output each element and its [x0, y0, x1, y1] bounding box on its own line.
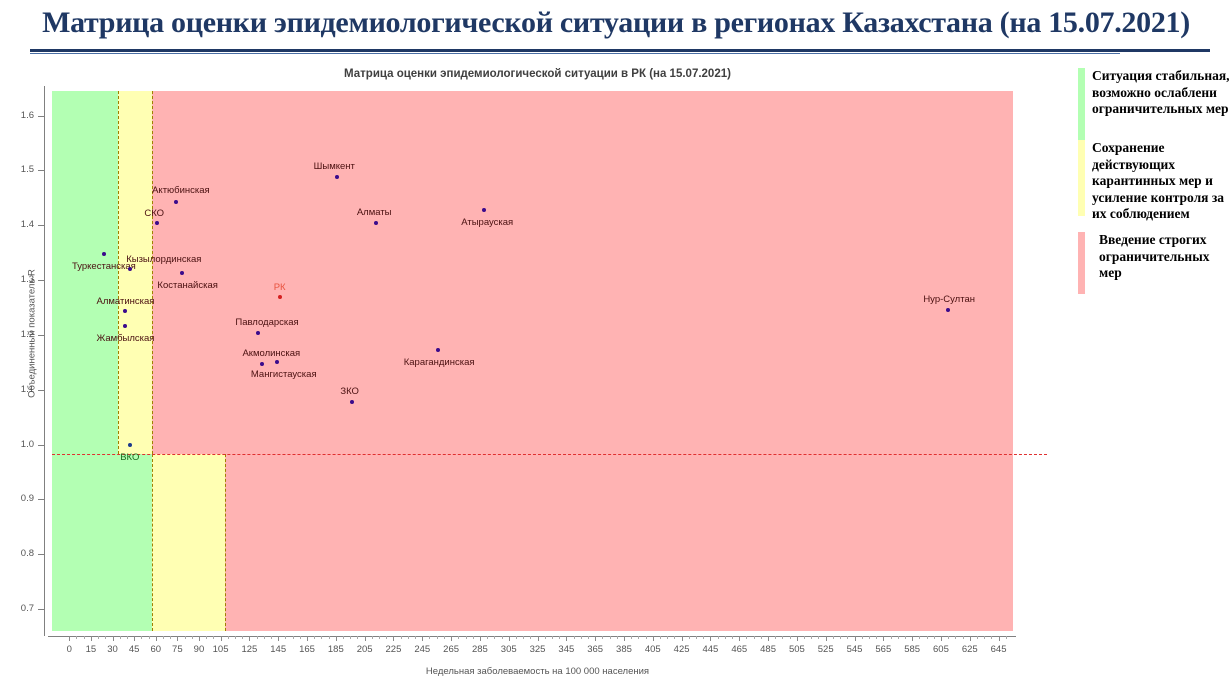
- x-axis-tick-label: 105: [213, 644, 229, 655]
- x-axis-minor-tick: [905, 636, 906, 639]
- data-point-label: ВКО: [120, 452, 139, 463]
- x-axis-tick: [451, 636, 452, 641]
- x-axis-minor-tick: [833, 636, 834, 639]
- x-axis-tick-label: 485: [760, 644, 776, 655]
- y-axis-tick-label: 0.8: [4, 548, 34, 559]
- x-axis-minor-tick: [602, 636, 603, 639]
- x-axis-tick-label: 15: [86, 644, 97, 655]
- x-axis-minor-tick: [754, 636, 755, 639]
- x-axis-minor-tick: [149, 636, 150, 639]
- zone-red-lower: [225, 454, 1013, 631]
- x-axis-minor-tick: [228, 636, 229, 639]
- x-axis-tick-label: 525: [818, 644, 834, 655]
- x-axis-tick: [365, 636, 366, 641]
- x-axis-tick-label: 465: [731, 644, 747, 655]
- zone-yellow-lower: [152, 454, 225, 631]
- chart-panel: Матрица оценки эпидемиологической ситуац…: [0, 58, 1075, 690]
- data-point-label: Павлодарская: [235, 317, 298, 328]
- y-axis-tick-label: 0.7: [4, 603, 34, 614]
- x-axis-minor-tick: [559, 636, 560, 639]
- x-axis-minor-tick: [703, 636, 704, 639]
- data-point: [155, 221, 159, 225]
- x-axis-minor-tick: [264, 636, 265, 639]
- x-axis-minor-tick: [466, 636, 467, 639]
- x-axis-minor-tick: [804, 636, 805, 639]
- data-point-label: Кызылординская: [126, 254, 201, 265]
- data-point-label: Актюбинская: [152, 185, 210, 196]
- x-axis-minor-tick: [343, 636, 344, 639]
- x-axis-minor-tick: [991, 636, 992, 639]
- x-axis-tick: [624, 636, 625, 641]
- x-axis-minor-tick: [293, 636, 294, 639]
- slide-title-bar: Матрица оценки эпидемиологической ситуац…: [0, 0, 1232, 52]
- x-axis-minor-tick: [523, 636, 524, 639]
- x-axis-minor-tick: [1006, 636, 1007, 639]
- x-axis-tick: [855, 636, 856, 641]
- x-axis-minor-tick: [927, 636, 928, 639]
- x-axis-tick: [595, 636, 596, 641]
- x-axis-minor-tick: [631, 636, 632, 639]
- legend-label-yellow: Сохранение действующих карантинных мер и…: [1085, 140, 1232, 223]
- page-title: Матрица оценки эпидемиологической ситуац…: [0, 6, 1232, 40]
- x-axis-line: [48, 636, 1016, 637]
- x-axis-tick-label: 445: [702, 644, 718, 655]
- y-axis-tick-label: 0.9: [4, 493, 34, 504]
- y-axis-tick: [38, 335, 44, 336]
- x-axis-tick: [538, 636, 539, 641]
- data-point-label: Акмолинская: [242, 348, 300, 359]
- data-point-label: Алматинская: [97, 296, 155, 307]
- x-axis-tick: [249, 636, 250, 641]
- data-point: [350, 400, 354, 404]
- x-axis-minor-tick: [638, 636, 639, 639]
- x-axis-tick: [739, 636, 740, 641]
- x-axis-tick-label: 365: [587, 644, 603, 655]
- x-axis-minor-tick: [574, 636, 575, 639]
- x-axis-minor-tick: [213, 636, 214, 639]
- x-axis-tick: [883, 636, 884, 641]
- x-axis-minor-tick: [898, 636, 899, 639]
- legend-label-red: Введение строгих ограничительных мер: [1085, 232, 1232, 294]
- x-axis-tick: [509, 636, 510, 641]
- y-axis-tick: [38, 554, 44, 555]
- title-underline-secondary: [30, 53, 1120, 54]
- x-axis-tick-label: 585: [904, 644, 920, 655]
- x-axis-tick-label: 185: [328, 644, 344, 655]
- x-axis-tick: [393, 636, 394, 641]
- threshold-line-incidence-high-upper: [152, 91, 153, 454]
- data-point-label: Алматы: [357, 207, 392, 218]
- x-axis-tick: [307, 636, 308, 641]
- x-axis-minor-tick: [617, 636, 618, 639]
- x-axis-tick-label: 545: [847, 644, 863, 655]
- threshold-line-incidence-low-upper: [118, 91, 119, 454]
- x-axis-tick-label: 265: [443, 644, 459, 655]
- y-axis-tick: [38, 225, 44, 226]
- x-axis-tick-label: 45: [129, 644, 140, 655]
- x-axis-minor-tick: [120, 636, 121, 639]
- x-axis-tick: [278, 636, 279, 641]
- x-axis-minor-tick: [891, 636, 892, 639]
- x-axis-tick-label: 75: [172, 644, 183, 655]
- y-axis-tick: [38, 445, 44, 446]
- x-axis-minor-tick: [610, 636, 611, 639]
- x-axis-label: Недельная заболеваемость на 100 000 насе…: [0, 666, 1075, 677]
- x-axis-minor-tick: [285, 636, 286, 639]
- x-axis-minor-tick: [919, 636, 920, 639]
- x-axis-minor-tick: [401, 636, 402, 639]
- data-point-label: Нур-Султан: [923, 294, 975, 305]
- x-axis-minor-tick: [977, 636, 978, 639]
- legend-item-green: Ситуация стабильная, возможно ослаблени …: [1078, 68, 1232, 140]
- x-axis-minor-tick: [732, 636, 733, 639]
- x-axis-minor-tick: [206, 636, 207, 639]
- y-axis-tick-label: 1.5: [4, 164, 34, 175]
- x-axis-tick-label: 205: [357, 644, 373, 655]
- x-axis-minor-tick: [84, 636, 85, 639]
- x-axis-tick-label: 385: [616, 644, 632, 655]
- x-axis-tick-label: 245: [414, 644, 430, 655]
- data-point-label: СКО: [144, 208, 164, 219]
- x-axis-tick: [134, 636, 135, 641]
- x-axis-tick: [113, 636, 114, 641]
- legend-swatch-green: [1078, 68, 1085, 140]
- title-underline: [30, 49, 1210, 52]
- x-axis-minor-tick: [782, 636, 783, 639]
- data-point-label: Атырауская: [461, 217, 513, 228]
- x-axis-tick: [710, 636, 711, 641]
- x-axis-tick: [768, 636, 769, 641]
- y-axis-tick: [38, 170, 44, 171]
- x-axis-tick-label: 90: [194, 644, 205, 655]
- x-axis-minor-tick: [811, 636, 812, 639]
- x-axis-tick-label: 30: [107, 644, 118, 655]
- zone-green-lower: [52, 454, 152, 631]
- data-point-label: ЗКО: [340, 386, 359, 397]
- x-axis-minor-tick: [271, 636, 272, 639]
- y-axis-tick: [38, 116, 44, 117]
- zone-green-upper: [52, 91, 118, 454]
- data-point: [128, 443, 132, 447]
- x-axis-minor-tick: [98, 636, 99, 639]
- x-axis-minor-tick: [314, 636, 315, 639]
- x-axis-minor-tick: [516, 636, 517, 639]
- x-axis-tick-label: 425: [674, 644, 690, 655]
- data-point: [174, 200, 178, 204]
- legend-swatch-red: [1078, 232, 1085, 294]
- y-axis-label: Объединенный показатель R: [27, 254, 38, 414]
- x-axis-tick: [336, 636, 337, 641]
- x-axis-minor-tick: [761, 636, 762, 639]
- x-axis-minor-tick: [984, 636, 985, 639]
- data-point: [436, 348, 440, 352]
- data-point: [335, 175, 339, 179]
- x-axis-tick-label: 405: [645, 644, 661, 655]
- x-axis-tick: [156, 636, 157, 641]
- x-axis-minor-tick: [76, 636, 77, 639]
- legend: Ситуация стабильная, возможно ослаблени …: [1078, 62, 1232, 382]
- legend-item-yellow: Сохранение действующих карантинных мер и…: [1078, 140, 1232, 223]
- x-axis-minor-tick: [725, 636, 726, 639]
- x-axis-tick: [912, 636, 913, 641]
- x-axis-tick: [177, 636, 178, 641]
- y-axis-line: [44, 86, 45, 636]
- x-axis-minor-tick: [170, 636, 171, 639]
- x-axis-tick: [480, 636, 481, 641]
- x-axis-minor-tick: [192, 636, 193, 639]
- x-axis-minor-tick: [963, 636, 964, 639]
- threshold-line-incidence-low-lower: [152, 454, 153, 631]
- x-axis-tick-label: 625: [962, 644, 978, 655]
- x-axis-minor-tick: [718, 636, 719, 639]
- x-axis-minor-tick: [660, 636, 661, 639]
- x-axis-minor-tick: [869, 636, 870, 639]
- x-axis-tick: [941, 636, 942, 641]
- x-axis-minor-tick: [646, 636, 647, 639]
- x-axis-tick-label: 60: [150, 644, 161, 655]
- x-axis-minor-tick: [408, 636, 409, 639]
- x-axis-minor-tick: [350, 636, 351, 639]
- x-axis-tick-label: 565: [875, 644, 891, 655]
- x-axis-tick: [999, 636, 1000, 641]
- x-axis-tick-label: 505: [789, 644, 805, 655]
- x-axis-tick-label: 345: [558, 644, 574, 655]
- x-axis-minor-tick: [552, 636, 553, 639]
- x-axis-tick: [970, 636, 971, 641]
- x-axis-minor-tick: [876, 636, 877, 639]
- data-point-label: Костанайская: [157, 280, 217, 291]
- x-axis-minor-tick: [746, 636, 747, 639]
- x-axis-minor-tick: [257, 636, 258, 639]
- x-axis-tick: [566, 636, 567, 641]
- x-axis-minor-tick: [235, 636, 236, 639]
- x-axis-minor-tick: [444, 636, 445, 639]
- y-axis-tick-label: 1.4: [4, 219, 34, 230]
- x-axis-tick: [221, 636, 222, 641]
- x-axis-tick: [199, 636, 200, 641]
- zone-yellow-upper: [118, 91, 152, 454]
- x-axis-tick-label: 285: [472, 644, 488, 655]
- x-axis-tick-label: 225: [386, 644, 402, 655]
- x-axis-minor-tick: [667, 636, 668, 639]
- x-axis-minor-tick: [357, 636, 358, 639]
- legend-swatch-yellow: [1078, 140, 1085, 216]
- x-axis-tick: [797, 636, 798, 641]
- x-axis-tick: [91, 636, 92, 641]
- x-axis-tick: [682, 636, 683, 641]
- y-axis-tick: [38, 280, 44, 281]
- x-axis-minor-tick: [321, 636, 322, 639]
- x-axis-minor-tick: [105, 636, 106, 639]
- y-axis-tick-label: 1.6: [4, 110, 34, 121]
- x-axis-tick-label: 0: [67, 644, 72, 655]
- x-axis-minor-tick: [847, 636, 848, 639]
- x-axis-tick: [653, 636, 654, 641]
- x-axis-minor-tick: [502, 636, 503, 639]
- data-point-label: РК: [274, 282, 286, 293]
- x-axis-minor-tick: [458, 636, 459, 639]
- x-axis-minor-tick: [163, 636, 164, 639]
- y-axis-tick: [38, 499, 44, 500]
- threshold-line-incidence-high-lower: [225, 454, 226, 631]
- x-axis-tick: [69, 636, 70, 641]
- data-point: [128, 267, 132, 271]
- chart-title: Матрица оценки эпидемиологической ситуац…: [0, 68, 1075, 80]
- x-axis-minor-tick: [141, 636, 142, 639]
- x-axis-tick-label: 165: [299, 644, 315, 655]
- x-axis-minor-tick: [955, 636, 956, 639]
- x-axis-minor-tick: [934, 636, 935, 639]
- x-axis-minor-tick: [242, 636, 243, 639]
- x-axis-minor-tick: [415, 636, 416, 639]
- x-axis-tick-label: 605: [933, 644, 949, 655]
- x-axis-tick-label: 305: [501, 644, 517, 655]
- x-axis-minor-tick: [581, 636, 582, 639]
- x-axis-minor-tick: [790, 636, 791, 639]
- x-axis-minor-tick: [696, 636, 697, 639]
- y-axis-tick-label: 1.0: [4, 439, 34, 450]
- x-axis-minor-tick: [588, 636, 589, 639]
- x-axis-minor-tick: [473, 636, 474, 639]
- data-point: [278, 295, 282, 299]
- x-axis-minor-tick: [494, 636, 495, 639]
- zone-red-upper: [152, 91, 1013, 454]
- data-point-label: Мангистауская: [251, 369, 317, 380]
- plot-area: ТуркестанскаяКызылординскаяАлматинскаяЖа…: [52, 91, 1013, 631]
- x-axis-minor-tick: [840, 636, 841, 639]
- data-point-label: Шымкент: [314, 161, 355, 172]
- x-axis-tick: [826, 636, 827, 641]
- x-axis-minor-tick: [379, 636, 380, 639]
- x-axis-minor-tick: [185, 636, 186, 639]
- legend-item-red: Введение строгих ограничительных мер: [1078, 232, 1232, 294]
- y-axis-tick: [38, 609, 44, 610]
- data-point-label: Карагандинская: [404, 357, 475, 368]
- x-axis-tick-label: 145: [270, 644, 286, 655]
- x-axis-tick: [422, 636, 423, 641]
- x-axis-minor-tick: [487, 636, 488, 639]
- x-axis-minor-tick: [545, 636, 546, 639]
- y-axis-tick: [38, 390, 44, 391]
- x-axis-minor-tick: [674, 636, 675, 639]
- x-axis-tick-label: 645: [991, 644, 1007, 655]
- x-axis-minor-tick: [775, 636, 776, 639]
- x-axis-tick-label: 125: [241, 644, 257, 655]
- x-axis-minor-tick: [127, 636, 128, 639]
- x-axis-minor-tick: [372, 636, 373, 639]
- x-axis-minor-tick: [818, 636, 819, 639]
- x-axis-minor-tick: [437, 636, 438, 639]
- threshold-line-r-one: [52, 454, 1047, 455]
- x-axis-minor-tick: [386, 636, 387, 639]
- x-axis-minor-tick: [862, 636, 863, 639]
- x-axis-minor-tick: [530, 636, 531, 639]
- data-point-label: Жамбылская: [96, 333, 154, 344]
- x-axis-minor-tick: [689, 636, 690, 639]
- legend-label-green: Ситуация стабильная, возможно ослаблени …: [1085, 68, 1232, 140]
- x-axis-tick-label: 325: [530, 644, 546, 655]
- x-axis-minor-tick: [329, 636, 330, 639]
- x-axis-minor-tick: [948, 636, 949, 639]
- data-point: [180, 271, 184, 275]
- x-axis-minor-tick: [429, 636, 430, 639]
- x-axis-minor-tick: [300, 636, 301, 639]
- data-point: [374, 221, 378, 225]
